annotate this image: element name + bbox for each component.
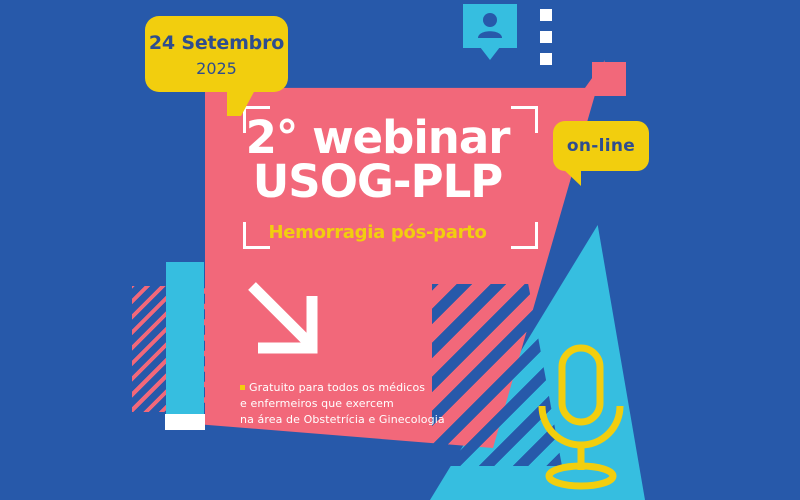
bubble-tail [480,47,500,60]
title-line-2: USOG-PLP [205,160,550,204]
online-badge-label: on-line [567,136,635,156]
bullet-icon [240,385,245,390]
square-dot-1 [540,9,552,21]
square-dot-2 [540,31,552,43]
fineprint-line-3: na área de Obstetrícia e Ginecologia [240,412,445,428]
online-badge: on-line [553,121,649,171]
page-title: 2° webinar USOG-PLP [205,116,550,204]
person-bubble-icon [463,4,517,48]
webinar-poster: 24 Setembro 2025 on-line 2° webinar USOG… [0,0,800,500]
square-dot-3 [540,53,552,65]
microphone-icon [524,340,638,492]
fineprint-line-2: e enfermeiros que exercem [240,396,445,412]
date-year: 2025 [145,54,288,78]
fineprint-line-1: Gratuito para todos os médicos [240,380,445,396]
fineprint-text-1: Gratuito para todos os médicos [249,381,425,394]
date-day-month: 24 Setembro [145,16,288,54]
title-line-1: 2° webinar [205,116,550,160]
fineprint: Gratuito para todos os médicos e enferme… [240,380,445,428]
arrow-down-right-icon [248,278,324,358]
subtitle: Hemorragia pós-parto [205,222,550,243]
bubble-tail [563,169,581,186]
date-badge: 24 Setembro 2025 [145,16,288,92]
pink-square-accent [592,62,626,96]
cyan-vertical-bar [166,262,204,420]
white-rectangle [165,414,205,430]
